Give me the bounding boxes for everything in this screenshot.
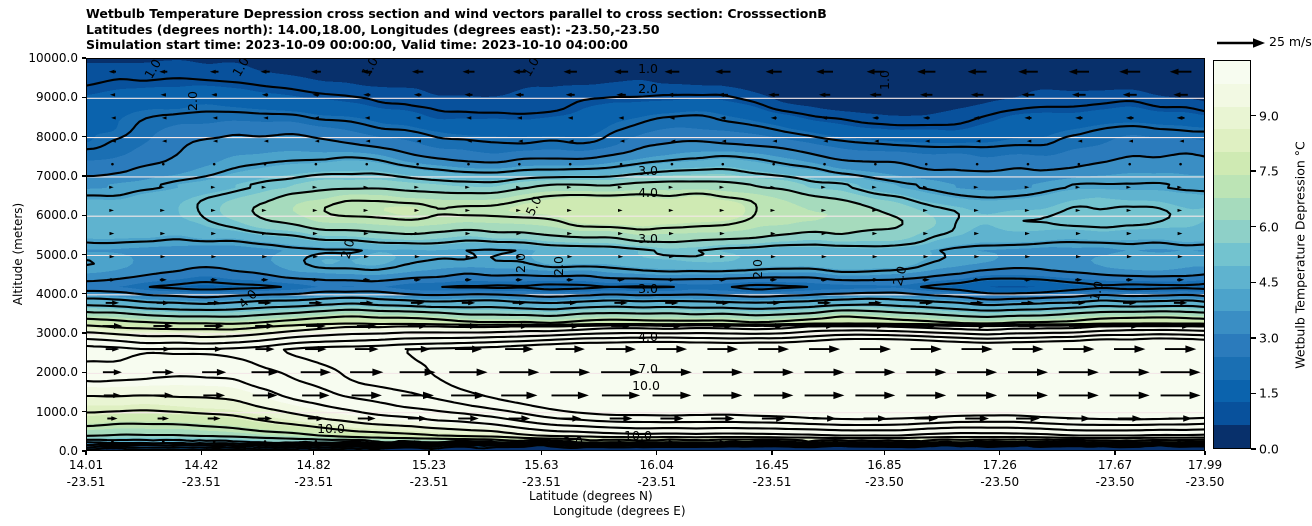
colorbar-segment xyxy=(1214,357,1250,380)
contour-label: 3.0 xyxy=(636,281,661,296)
colorbar-segment xyxy=(1214,402,1250,425)
x-tick-label-lon: -23.51 xyxy=(753,475,792,489)
colorbar-segment xyxy=(1214,266,1250,289)
x-tick-mark xyxy=(884,451,885,455)
contour-label: 3.0 xyxy=(636,231,661,246)
y-tick-label: 0.0 xyxy=(59,444,78,458)
contour-label-text: 3.0 xyxy=(638,163,658,178)
x-tick-mark xyxy=(771,451,772,455)
x-tick-label-lat: 14.01 xyxy=(69,458,103,472)
colorbar-segment xyxy=(1214,175,1250,198)
wind-vector xyxy=(874,163,877,166)
x-tick-label-lat: 16.85 xyxy=(867,458,901,472)
contour-label: 2.0 xyxy=(561,434,586,449)
y-tick-mark xyxy=(82,136,86,137)
colorbar-title: Wetbulb Temperature Depression °C xyxy=(1293,141,1308,368)
x-tick-label-lat: 15.63 xyxy=(524,458,558,472)
x-tick-label-lat: 17.99 xyxy=(1188,458,1222,472)
plot-area: 1.01.01.01.01.01.02.02.03.04.05.03.02.02… xyxy=(86,58,1205,451)
colorbar-tick-mark xyxy=(1251,282,1256,283)
contour-label-text: 3.0 xyxy=(638,231,658,246)
contour-label: 2.0 xyxy=(513,251,528,276)
wind-vector xyxy=(976,163,979,166)
contour-label-text: 2.0 xyxy=(551,256,566,276)
title-line-3: Simulation start time: 2023-10-09 00:00:… xyxy=(86,37,1186,53)
colorbar xyxy=(1213,60,1251,449)
colorbar-segment xyxy=(1214,198,1250,221)
colorbar-segment xyxy=(1214,61,1250,84)
x-tick-label-lon: -23.51 xyxy=(410,475,449,489)
wind-vector xyxy=(416,163,419,166)
figure-title: Wetbulb Temperature Depression cross sec… xyxy=(86,6,1186,53)
colorbar-segment xyxy=(1214,425,1250,448)
wind-vector xyxy=(315,440,318,443)
x-axis-title-lat: Latitude (degrees N) xyxy=(529,489,653,503)
wind-vector xyxy=(365,440,368,443)
y-tick-mark xyxy=(82,175,86,176)
contour-label: 2.0 xyxy=(636,81,661,96)
contour-label-text: 2.0 xyxy=(638,81,658,96)
y-tick-mark xyxy=(82,215,86,216)
quiver-key-label: 25 m/s xyxy=(1269,34,1312,49)
y-tick-label: 4000.0 xyxy=(36,287,78,301)
y-tick-mark xyxy=(82,97,86,98)
contour-label: 1.0 xyxy=(877,68,892,93)
colorbar-segment xyxy=(1214,311,1250,334)
contour-label-text: 10.0 xyxy=(624,428,652,443)
colorbar-segment xyxy=(1214,243,1250,266)
wind-vector xyxy=(213,163,216,166)
x-tick-mark xyxy=(428,451,429,455)
quiver-key-arrow-icon xyxy=(1213,33,1269,53)
x-tick-mark xyxy=(1204,451,1205,455)
wind-vector xyxy=(264,440,267,443)
contour-label-text: 1.0 xyxy=(638,61,658,76)
y-tick-mark xyxy=(82,372,86,373)
title-line-2: Latitudes (degrees north): 14.00,18.00, … xyxy=(86,22,1186,38)
figure-root: Wetbulb Temperature Depression cross sec… xyxy=(0,0,1312,526)
contour-label: 4.0 xyxy=(636,329,661,344)
wind-vector xyxy=(1078,163,1081,166)
x-tick-mark xyxy=(201,451,202,455)
y-tick-label: 1000.0 xyxy=(36,405,78,419)
x-tick-label-lat: 15.23 xyxy=(412,458,446,472)
colorbar-tick-mark xyxy=(1251,448,1256,449)
contour-label: 7.0 xyxy=(636,361,661,376)
y-tick-mark xyxy=(82,293,86,294)
contour-label-text: 10.0 xyxy=(632,378,660,393)
contour-label: 4.0 xyxy=(636,185,661,200)
colorbar-tick-mark xyxy=(1251,393,1256,394)
contour-label-text: 4.0 xyxy=(638,185,658,200)
wind-vector xyxy=(1128,163,1131,166)
contour-label-text: 2.0 xyxy=(185,91,200,111)
wind-vector xyxy=(162,440,165,443)
contour-label: 2.0 xyxy=(185,89,200,114)
y-tick-label: 10000.0 xyxy=(28,51,78,65)
contour-label: 10.0 xyxy=(622,428,654,443)
x-tick-label-lon: -23.51 xyxy=(294,475,333,489)
colorbar-tick-label: 1.5 xyxy=(1259,386,1279,401)
contour-label-text: 1.0 xyxy=(877,70,892,90)
x-tick-label-lat: 17.26 xyxy=(983,458,1017,472)
contour-label: 10.0 xyxy=(630,378,662,393)
y-tick-label: 7000.0 xyxy=(36,169,78,183)
x-tick-label-lat: 14.82 xyxy=(297,458,331,472)
contour-label: 10.0 xyxy=(315,421,347,436)
contour-plot-svg: 1.01.01.01.01.01.02.02.03.04.05.03.02.02… xyxy=(87,59,1205,451)
x-tick-label-lon: -23.50 xyxy=(1096,475,1135,489)
colorbar-segment xyxy=(1214,84,1250,107)
colorbar-tick-label: 9.0 xyxy=(1259,108,1279,123)
y-tick-label: 5000.0 xyxy=(36,248,78,262)
colorbar-tick-label: 4.5 xyxy=(1259,275,1279,290)
x-tick-label-lon: -23.51 xyxy=(182,475,221,489)
x-tick-mark xyxy=(85,451,86,455)
x-tick-label-lon: -23.51 xyxy=(67,475,106,489)
x-tick-label-lat: 14.42 xyxy=(184,458,218,472)
y-tick-mark xyxy=(82,254,86,255)
wind-vector xyxy=(467,163,470,166)
contour-label: 2.0 xyxy=(551,254,566,279)
colorbar-segment xyxy=(1214,380,1250,403)
x-axis-title-lon: Longitude (degrees E) xyxy=(553,504,686,518)
colorbar-tick-label: 3.0 xyxy=(1259,330,1279,345)
y-tick-mark xyxy=(82,57,86,58)
colorbar-segment xyxy=(1214,107,1250,130)
wind-vector xyxy=(1027,163,1030,166)
x-tick-mark xyxy=(1114,451,1115,455)
wind-vector xyxy=(162,163,165,166)
contour-label-text: 10.0 xyxy=(317,421,345,436)
contour-label-text: 2.0 xyxy=(750,259,765,279)
contour-label-text: 4.0 xyxy=(638,329,658,344)
quiver-key: 25 m/s xyxy=(1213,33,1312,53)
x-tick-label-lon: -23.50 xyxy=(1186,475,1225,489)
colorbar-segment xyxy=(1214,152,1250,175)
wind-vector xyxy=(925,163,928,166)
y-tick-label: 6000.0 xyxy=(36,208,78,222)
x-tick-mark xyxy=(999,451,1000,455)
y-tick-label: 8000.0 xyxy=(36,130,78,144)
x-tick-label-lon: -23.51 xyxy=(637,475,676,489)
x-tick-label-lat: 17.67 xyxy=(1098,458,1132,472)
y-tick-label: 9000.0 xyxy=(36,90,78,104)
colorbar-segment xyxy=(1214,129,1250,152)
contour-label-text: 2.0 xyxy=(563,434,583,449)
wind-vector xyxy=(620,163,623,166)
x-tick-label-lon: -23.51 xyxy=(522,475,561,489)
wind-vector xyxy=(111,440,114,443)
contour-label-text: 3.0 xyxy=(638,281,658,296)
contour-label: 2.0 xyxy=(750,257,765,282)
wind-vector xyxy=(569,163,572,166)
colorbar-tick-mark xyxy=(1251,337,1256,338)
wind-vector xyxy=(721,163,724,166)
contour-label: 1.0 xyxy=(636,61,661,76)
x-tick-label-lat: 16.45 xyxy=(755,458,789,472)
colorbar-tick-label: 0.0 xyxy=(1259,442,1279,457)
y-tick-label: 2000.0 xyxy=(36,365,78,379)
x-tick-label-lon: -23.50 xyxy=(865,475,904,489)
y-tick-label: 3000.0 xyxy=(36,326,78,340)
colorbar-tick-label: 7.5 xyxy=(1259,164,1279,179)
colorbar-tick-mark xyxy=(1251,170,1256,171)
wind-vector xyxy=(315,163,318,166)
y-tick-mark xyxy=(82,332,86,333)
wind-vector xyxy=(772,163,775,166)
wind-vector xyxy=(111,163,114,166)
x-tick-mark xyxy=(541,451,542,455)
x-tick-label-lat: 16.04 xyxy=(640,458,674,472)
colorbar-segment xyxy=(1214,220,1250,243)
colorbar-tick-mark xyxy=(1251,226,1256,227)
wind-vector xyxy=(671,163,674,166)
x-tick-mark xyxy=(313,451,314,455)
colorbar-segment xyxy=(1214,289,1250,312)
contour-label: 3.0 xyxy=(636,163,661,178)
y-axis-title: Altitude (meters) xyxy=(11,203,25,305)
x-tick-label-lon: -23.50 xyxy=(980,475,1019,489)
x-tick-mark xyxy=(656,451,657,455)
wind-vector xyxy=(264,163,267,166)
wind-vector xyxy=(518,163,521,166)
contour-label-text: 7.0 xyxy=(638,361,658,376)
wind-vector xyxy=(365,163,368,166)
y-tick-mark xyxy=(82,411,86,412)
colorbar-segment xyxy=(1214,334,1250,357)
wind-vector xyxy=(213,440,216,443)
contour-label-text: 2.0 xyxy=(513,253,528,273)
colorbar-tick-mark xyxy=(1251,115,1256,116)
title-line-1: Wetbulb Temperature Depression cross sec… xyxy=(86,6,1186,22)
wind-vector xyxy=(1179,163,1182,166)
colorbar-tick-label: 6.0 xyxy=(1259,219,1279,234)
wind-vector xyxy=(823,163,826,166)
